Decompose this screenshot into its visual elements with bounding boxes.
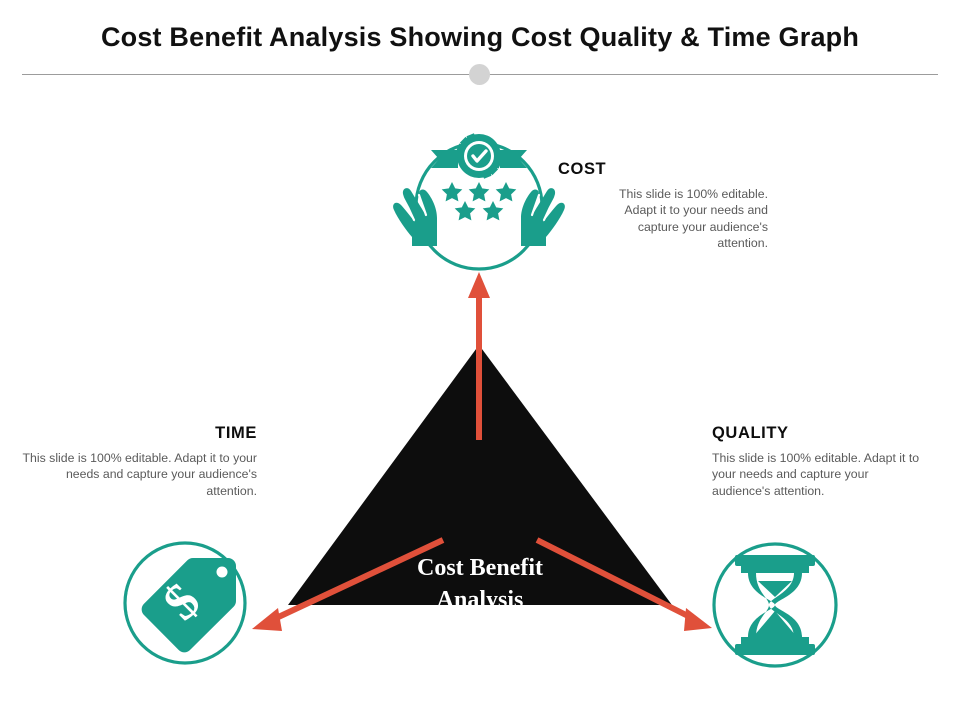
cost-body: This slide is 100% editable. Adapt it to… bbox=[558, 186, 768, 251]
cost-text-block: COST This slide is 100% editable. Adapt … bbox=[558, 160, 768, 251]
quality-text-block: QUALITY This slide is 100% editable. Ada… bbox=[712, 424, 927, 499]
time-icon-group[interactable]: $ bbox=[125, 543, 245, 663]
cost-icon-group[interactable] bbox=[393, 133, 565, 269]
center-label-line-1: Cost Benefit bbox=[355, 552, 605, 584]
quality-heading: QUALITY bbox=[712, 424, 927, 443]
page-title: Cost Benefit Analysis Showing Cost Quali… bbox=[0, 22, 960, 53]
time-body: This slide is 100% editable. Adapt it to… bbox=[22, 450, 257, 499]
time-text-block: TIME This slide is 100% editable. Adapt … bbox=[22, 424, 257, 499]
triangle-diagram: $ bbox=[0, 100, 960, 700]
quality-body: This slide is 100% editable. Adapt it to… bbox=[712, 450, 927, 499]
quality-icon-group[interactable] bbox=[714, 544, 836, 666]
center-label: Cost Benefit Analysis bbox=[355, 552, 605, 617]
cost-heading: COST bbox=[558, 160, 768, 179]
center-label-line-2: Analysis bbox=[355, 584, 605, 616]
time-heading: TIME bbox=[22, 424, 257, 443]
slide-canvas: Cost Benefit Analysis Showing Cost Quali… bbox=[0, 0, 960, 720]
title-divider-dot-icon bbox=[469, 64, 490, 85]
